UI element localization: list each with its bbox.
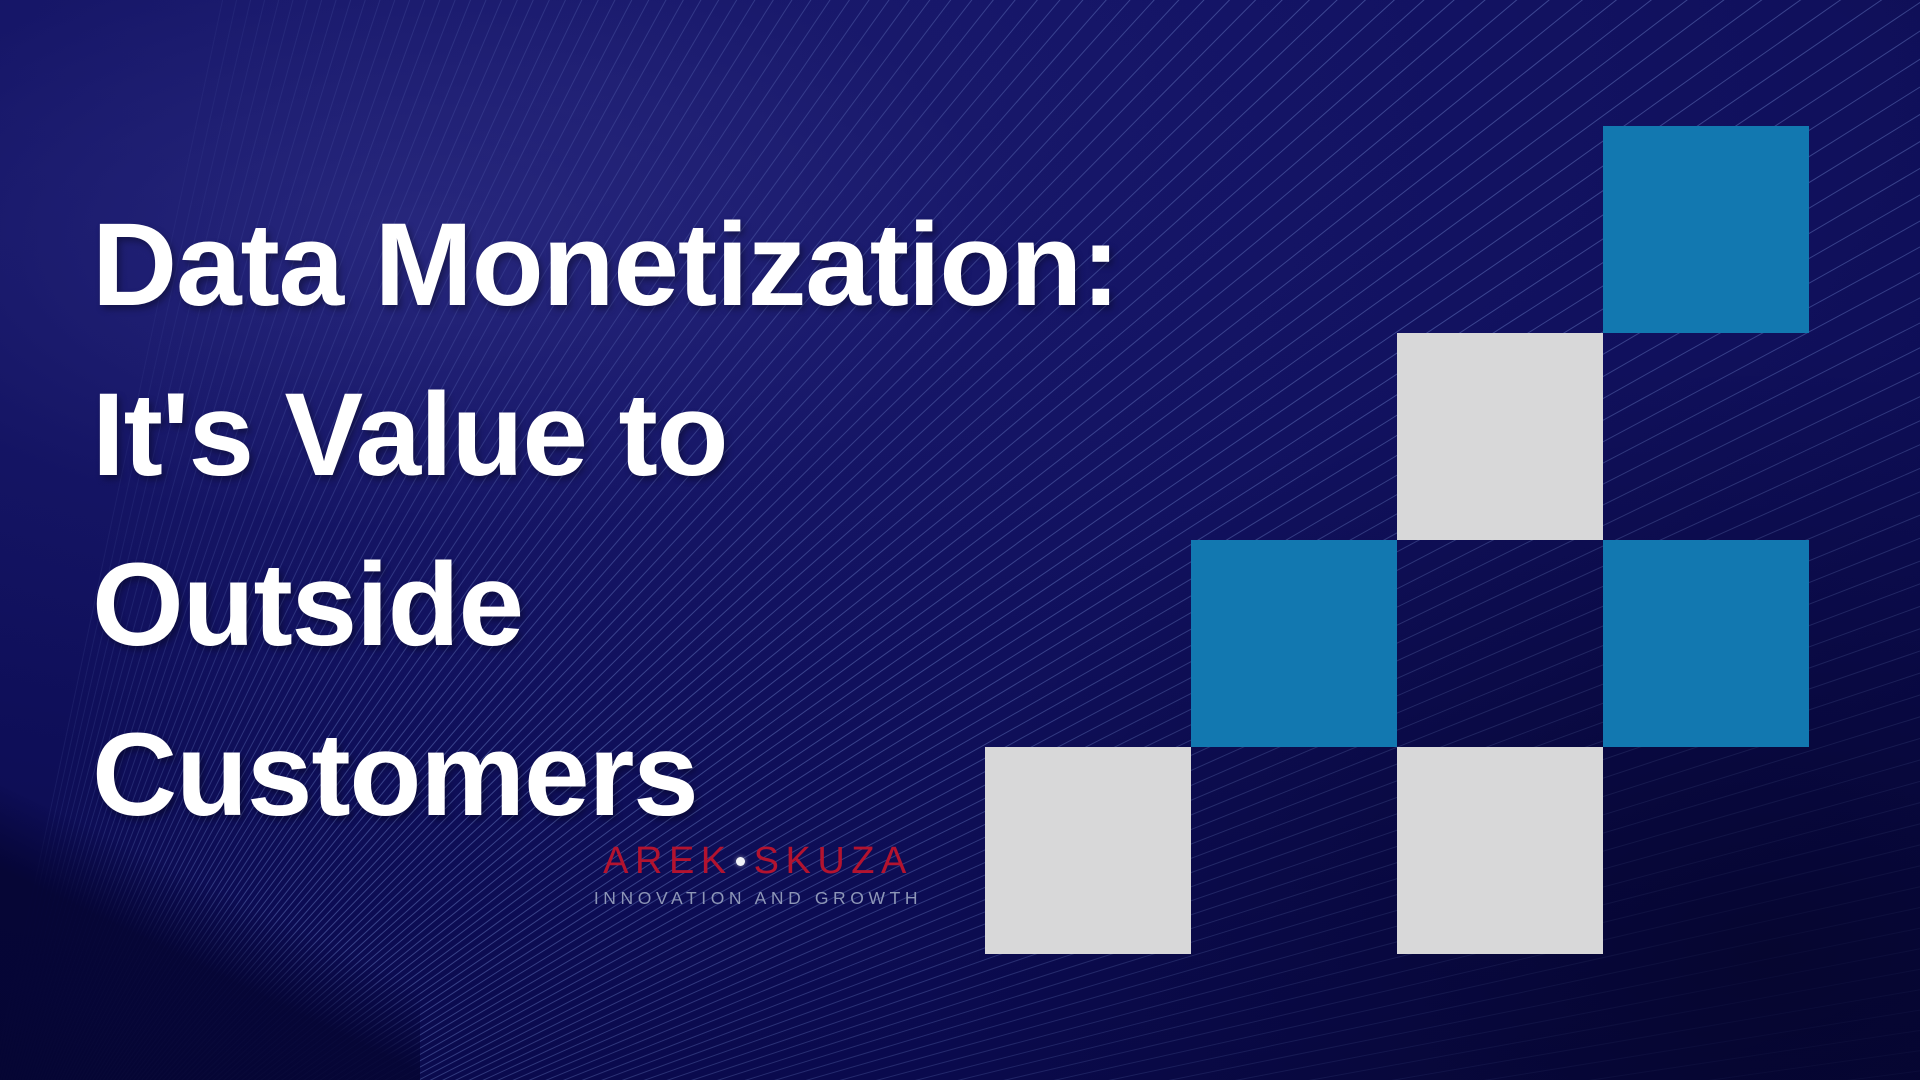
- checker-cell-r3-c2: [1397, 747, 1603, 954]
- checker-cell-r2-c3: [1603, 540, 1809, 747]
- brand-name-last: SKUZA: [754, 838, 913, 884]
- slide-canvas: Data Monetization: It's Value to Outside…: [0, 0, 1920, 1080]
- checker-cell-r3-c0: [985, 747, 1191, 954]
- brand-logo[interactable]: AREK SKUZA INNOVATION AND GROWTH: [578, 838, 938, 909]
- checker-cell-r1-c2: [1397, 333, 1603, 540]
- checker-cell-r0-c3: [1603, 126, 1809, 333]
- checkerboard-decoration: [985, 126, 1811, 954]
- checker-cell-r2-c1: [1191, 540, 1397, 747]
- dot-separator-icon: [736, 857, 745, 866]
- brand-tagline: INNOVATION AND GROWTH: [578, 888, 938, 909]
- brand-logo-wordmark: AREK SKUZA: [578, 838, 938, 884]
- brand-name-first: AREK: [603, 838, 732, 884]
